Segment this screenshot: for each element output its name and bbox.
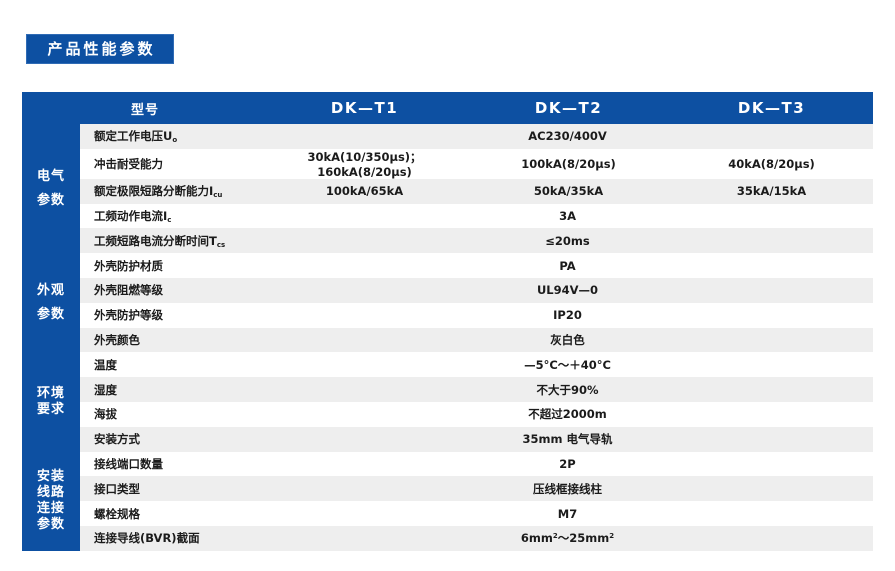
row-label: 外壳阻燃等级 xyxy=(80,278,262,303)
product-specification-table: 型号 DK—T1 DK—T2 DK—T3 电气 参数 额定工作电压Uo AC23… xyxy=(22,92,873,551)
table-row: 接口类型 压线框接线柱 xyxy=(22,476,873,501)
row-label-text: 海拔 xyxy=(94,407,117,421)
group-label-line: 电气 xyxy=(22,165,80,189)
row-value-all-models: 6mm2～25mm2 xyxy=(262,526,873,551)
row-label: 连接导线(BVR)截面 xyxy=(80,526,262,551)
table-row: 外壳阻燃等级 UL94V—0 xyxy=(22,278,873,303)
table-row: 海拔 不超过2000m xyxy=(22,402,873,427)
row-label-text: 工频动作电流I xyxy=(94,209,167,223)
group-label-line: 连接 xyxy=(22,501,80,517)
header-column-t1: DK—T1 xyxy=(262,92,467,124)
header-column-t3: DK—T3 xyxy=(670,92,873,124)
row-value-t3: 35kA/15kA xyxy=(670,179,873,204)
header-column-t2: DK—T2 xyxy=(467,92,670,124)
row-label: 湿度 xyxy=(80,377,262,402)
group-label-line: 参数 xyxy=(22,189,80,213)
table-header-row: 型号 DK—T1 DK—T2 DK—T3 xyxy=(22,92,873,124)
group-label-line: 要求 xyxy=(22,402,80,418)
row-label-text: 连接导线(BVR)截面 xyxy=(94,531,200,545)
row-label: 额定极限短路分断能力Icu xyxy=(80,179,262,204)
row-label-subscript: c xyxy=(167,216,171,224)
table-row: 工频短路电流分断时间Tcs ≤20ms xyxy=(22,228,873,253)
row-label: 工频动作电流Ic xyxy=(80,204,262,229)
row-label: 额定工作电压Uo xyxy=(80,124,262,149)
row-value-all-models: UL94V—0 xyxy=(262,278,873,303)
table-row: 螺栓规格 M7 xyxy=(22,501,873,526)
row-value-all-models: PA xyxy=(262,253,873,278)
row-label-text: 安装方式 xyxy=(94,432,140,446)
wire-section-value-mid: ～25mm xyxy=(558,531,609,545)
wire-section-exponent: 2 xyxy=(553,532,558,540)
row-value-t1: 30kA(10/350μs)；160kA(8/20μs) xyxy=(262,149,467,179)
row-value-all-models: IP20 xyxy=(262,303,873,328)
row-label-text: 外壳颜色 xyxy=(94,333,140,347)
row-value-all-models: 35mm 电气导轨 xyxy=(262,427,873,452)
table-row: 外观 参数 外壳防护材质 PA xyxy=(22,253,873,278)
row-label-text: 温度 xyxy=(94,358,117,372)
row-value-t3: 40kA(8/20μs) xyxy=(670,149,873,179)
row-label-text: 外壳阻燃等级 xyxy=(94,283,163,297)
wire-section-exponent: 2 xyxy=(609,532,614,540)
row-label: 接线端口数量 xyxy=(80,452,262,477)
header-model-label: 型号 xyxy=(22,92,262,124)
row-label-text: 接口类型 xyxy=(94,482,140,496)
table-row: 额定极限短路分断能力Icu 100kA/65kA 50kA/35kA 35kA/… xyxy=(22,179,873,204)
page-title-badge: 产品性能参数 xyxy=(26,34,174,64)
table-row: 外壳防护等级 IP20 xyxy=(22,303,873,328)
table-row: 安装 线路 连接 参数 接线端口数量 2P xyxy=(22,452,873,477)
row-label: 外壳防护等级 xyxy=(80,303,262,328)
row-label: 外壳防护材质 xyxy=(80,253,262,278)
row-value-all-models: 不大于90% xyxy=(262,377,873,402)
row-label-text: 额定极限短路分断能力I xyxy=(94,184,213,198)
row-label: 螺栓规格 xyxy=(80,501,262,526)
table-row: 环境 要求 温度 —5°C～＋40°C xyxy=(22,352,873,377)
row-label-text: 额定工作电压U xyxy=(94,129,172,143)
row-value-all-models: ≤20ms xyxy=(262,228,873,253)
table-row: 冲击耐受能力 30kA(10/350μs)；160kA(8/20μs) 100k… xyxy=(22,149,873,179)
row-label: 外壳颜色 xyxy=(80,328,262,353)
group-label-environment: 环境 要求 xyxy=(22,352,80,451)
table-row: 连接导线(BVR)截面 6mm2～25mm2 xyxy=(22,526,873,551)
row-label: 工频短路电流分断时间Tcs xyxy=(80,228,262,253)
row-value-all-models: —5°C～＋40°C xyxy=(262,352,873,377)
row-value-t2: 50kA/35kA xyxy=(467,179,670,204)
page-title: 产品性能参数 xyxy=(44,42,155,57)
wire-section-value-pre: 6mm xyxy=(521,531,553,545)
table-row: 外壳颜色 灰白色 xyxy=(22,328,873,353)
group-label-line: 线路 xyxy=(22,485,80,501)
row-value-t2: 100kA(8/20μs) xyxy=(467,149,670,179)
row-label-subscript: o xyxy=(172,136,177,144)
row-value-all-models: 不超过2000m xyxy=(262,402,873,427)
group-label-line: 环境 xyxy=(22,386,80,402)
row-label-text: 冲击耐受能力 xyxy=(94,157,163,171)
row-value-t1: 100kA/65kA xyxy=(262,179,467,204)
group-label-line: 参数 xyxy=(22,303,80,327)
row-label-subscript: cs xyxy=(217,241,225,249)
row-label-text: 螺栓规格 xyxy=(94,507,140,521)
table-row: 安装方式 35mm 电气导轨 xyxy=(22,427,873,452)
row-label-text: 工频短路电流分断时间T xyxy=(94,234,217,248)
row-value-all-models: 2P xyxy=(262,452,873,477)
row-label: 海拔 xyxy=(80,402,262,427)
row-label: 温度 xyxy=(80,352,262,377)
row-value-all-models: AC230/400V xyxy=(262,124,873,149)
row-value-all-models: 灰白色 xyxy=(262,328,873,353)
row-label: 接口类型 xyxy=(80,476,262,501)
group-label-line: 外观 xyxy=(22,279,80,303)
row-value-all-models: 压线框接线柱 xyxy=(262,476,873,501)
row-label: 安装方式 xyxy=(80,427,262,452)
group-label-line: 参数 xyxy=(22,517,80,533)
row-label-text: 湿度 xyxy=(94,383,117,397)
group-label-installation: 安装 线路 连接 参数 xyxy=(22,452,80,551)
table-row: 湿度 不大于90% xyxy=(22,377,873,402)
row-label: 冲击耐受能力 xyxy=(80,149,262,179)
group-label-line: 安装 xyxy=(22,469,80,485)
group-label-electrical: 电气 参数 xyxy=(22,124,80,253)
table-row: 电气 参数 额定工作电压Uo AC230/400V xyxy=(22,124,873,149)
row-label-text: 外壳防护等级 xyxy=(94,308,163,322)
row-label-subscript: cu xyxy=(213,191,222,199)
row-value-all-models: M7 xyxy=(262,501,873,526)
group-label-appearance: 外观 参数 xyxy=(22,253,80,352)
row-value-all-models: 3A xyxy=(262,204,873,229)
row-label-text: 外壳防护材质 xyxy=(94,259,163,273)
table-row: 工频动作电流Ic 3A xyxy=(22,204,873,229)
row-label-text: 接线端口数量 xyxy=(94,457,163,471)
